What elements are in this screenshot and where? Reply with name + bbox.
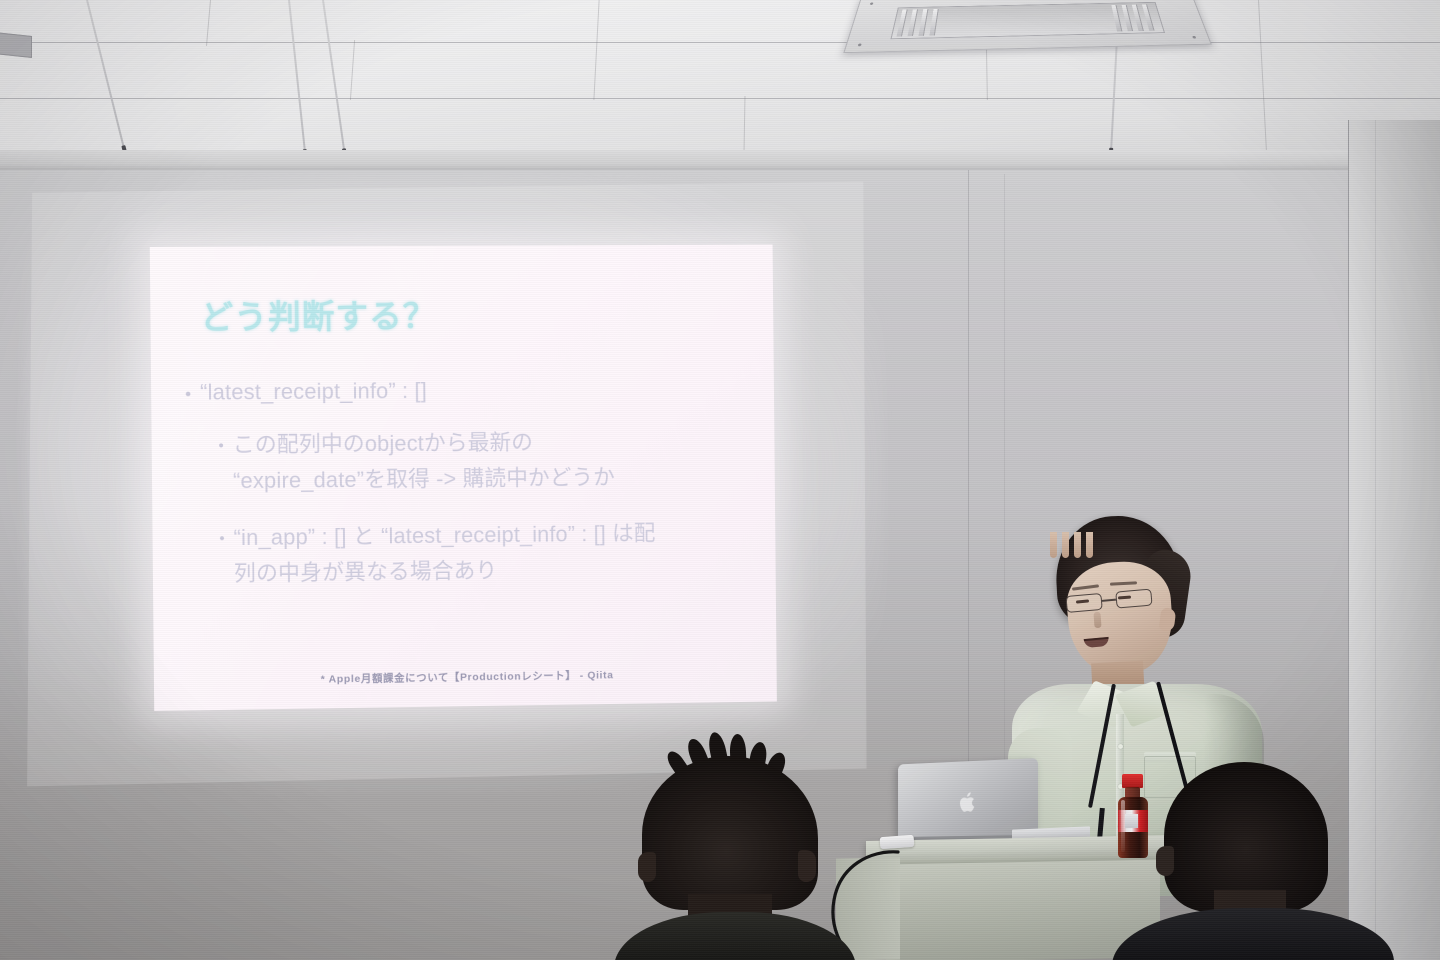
slide-bullet-list: • “latest_receipt_info” : [] • この配列中のobj…: [185, 373, 755, 615]
slide-bullet-level2: • “in_app” : [] と “latest_receipt_info” …: [219, 515, 754, 592]
slide-bullet-level2: • この配列中のobjectから最新の “expire_date”を取得 -> …: [218, 423, 753, 499]
presenter-nose: [1093, 612, 1101, 628]
cola-bottle: [1116, 774, 1150, 858]
audience-member-front-left: [632, 756, 828, 960]
audience-shoulders: [1112, 908, 1394, 960]
ceiling-suspension-rod: [322, 0, 345, 151]
suspended-ceiling: [0, 0, 1440, 176]
ceiling-suspension-rod: [86, 0, 125, 148]
slide-footnote: * Apple月額課金について【Productionレシート】 - Qiita: [154, 665, 777, 689]
audience-shoulders: [614, 912, 856, 960]
audience-hair: [642, 756, 818, 910]
audience-ear: [638, 852, 656, 882]
bullet-dot-icon: •: [219, 532, 224, 547]
audience-member-front-right: [1146, 762, 1376, 960]
bottle-cap: [1122, 774, 1143, 788]
slide-bullet-text: この配列中のobjectから最新の “expire_date”を取得 -> 購読…: [233, 424, 616, 498]
audience-ear: [798, 850, 816, 882]
bullet-dot-icon: •: [218, 439, 223, 454]
slide-bullet-text: “in_app” : [] と “latest_receipt_info” : …: [233, 516, 656, 592]
projected-slide: どう判断する？ • “latest_receipt_info” : [] • こ…: [150, 245, 777, 711]
hvac-ceiling-vent: [843, 0, 1212, 53]
ceiling-suspension-rod: [288, 0, 306, 151]
slide-bullet-level1: • “latest_receipt_info” : []: [185, 373, 753, 408]
slide-title: どう判断する？: [200, 290, 436, 339]
apple-logo-icon: [957, 790, 975, 814]
podium-front-panel: [886, 860, 1160, 960]
slide-bullet-text: “latest_receipt_info” : []: [200, 375, 427, 408]
audience-ear: [1156, 846, 1174, 876]
presentation-photo-scene: どう判断する？ • “latest_receipt_info” : [] • こ…: [0, 0, 1440, 960]
bullet-dot-icon: •: [185, 386, 191, 403]
